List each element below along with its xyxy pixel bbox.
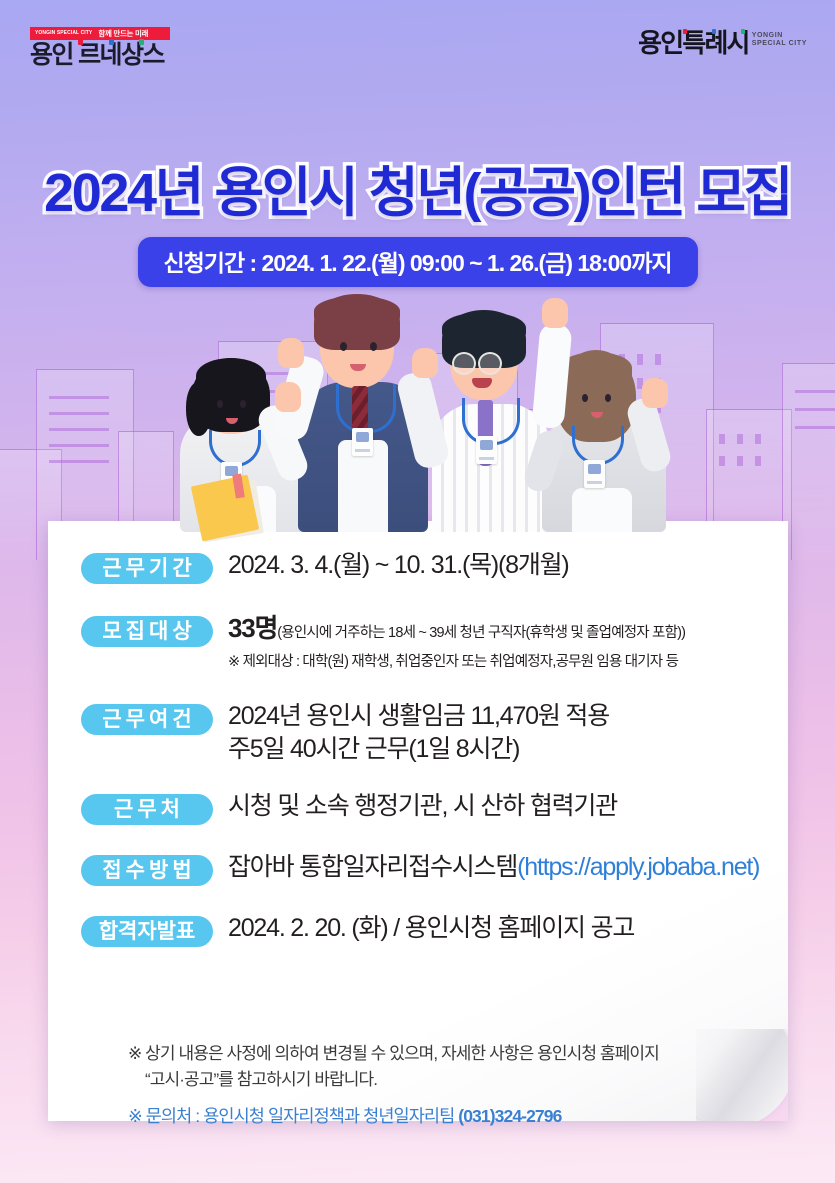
page-title: 2024년 용인시 청년(공공)인턴 모집 xyxy=(0,148,835,227)
logo-yongin-renaissance: YONGIN SPECIAL CITY 함께 만드는 미래 용인 르네상스 xyxy=(30,27,170,69)
logo-ribbon: YONGIN SPECIAL CITY 함께 만드는 미래 xyxy=(30,27,170,40)
footnote-disclaimer: ※ 상기 내용은 사정에 의하여 변경될 수 있으며, 자세한 사항은 용인시청… xyxy=(128,1041,758,1093)
hair-front xyxy=(314,296,400,326)
info-row-apply-method: 접수방법 잡아바 통합일자리접수시스템(https://apply.jobaba… xyxy=(48,851,788,886)
id-badge xyxy=(584,460,605,488)
info-card: 근무기간 2024. 3. 4.(월) ~ 10. 31.(목)(8개월) 모집… xyxy=(48,521,788,1121)
logo-accent-dot-green xyxy=(139,39,144,45)
folders xyxy=(194,476,264,538)
eye-left xyxy=(582,394,588,402)
logo-right-wordmark: 용인특례시 xyxy=(638,30,749,57)
results-value: 2024. 2. 20. (화) / 용인시청 홈페이지 공고 xyxy=(228,914,634,942)
info-row-results: 합격자발표 2024. 2. 20. (화) / 용인시청 홈페이지 공고 xyxy=(48,912,788,947)
people-illustration xyxy=(176,286,660,532)
id-badge xyxy=(476,436,497,464)
poster-root: YONGIN SPECIAL CITY 함께 만드는 미래 용인 르네상스 용인… xyxy=(0,0,835,1183)
logo-accent-dot-red xyxy=(683,29,687,34)
hair-side-ponytail xyxy=(186,382,212,436)
logo-right-wordmark-text: 용인특례시 xyxy=(638,28,749,58)
eye-left xyxy=(217,400,223,408)
row-value-apply-method: 잡아바 통합일자리접수시스템(https://apply.jobaba.net) xyxy=(213,851,759,884)
footnote-disclaimer-line2: “고시·공고”를 참고하시기 바랍니다. xyxy=(128,1067,758,1093)
row-label-target: 모집대상 xyxy=(81,616,213,647)
eye-left xyxy=(340,342,347,351)
logo-accent-dot-blue xyxy=(712,29,716,34)
info-rows: 근무기간 2024. 3. 4.(월) ~ 10. 31.(목)(8개월) 모집… xyxy=(48,521,788,947)
info-row-conditions: 근무여건 2024년 용인시 생활임금 11,470원 적용 주5일 40시간 … xyxy=(48,700,788,766)
lanyard xyxy=(336,384,396,433)
apply-url-link[interactable]: (https://apply.jobaba.net) xyxy=(517,853,759,881)
apply-system-name: 잡아바 통합일자리접수시스템 xyxy=(228,853,517,881)
fist xyxy=(642,378,668,408)
id-badge xyxy=(352,428,373,456)
contact-prefix: ※ 문의처 : 용인시청 일자리정책과 청년일자리팀 xyxy=(128,1106,458,1126)
conditions-hours: 주5일 40시간 근무(1일 8시간) xyxy=(228,733,609,766)
logo-ribbon-kr: 함께 만드는 미래 xyxy=(98,28,148,39)
collar xyxy=(572,488,632,532)
work-period-value: 2024. 3. 4.(월) ~ 10. 31.(목)(8개월) xyxy=(228,551,569,579)
eye-right xyxy=(370,342,377,351)
logo-ribbon-en: YONGIN SPECIAL CITY xyxy=(35,31,92,35)
info-row-target: 모집대상 33명(용인시에 거주하는 18세 ~ 39세 청년 구직자(휴학생 … xyxy=(48,612,788,674)
footnote-disclaimer-line1: ※ 상기 내용은 사정에 의하여 변경될 수 있으며, 자세한 사항은 용인시청… xyxy=(128,1044,659,1063)
row-value-results: 2024. 2. 20. (화) / 용인시청 홈페이지 공고 xyxy=(213,912,634,945)
fist xyxy=(275,382,301,412)
conditions-wage: 2024년 용인시 생활임금 11,470원 적용 xyxy=(228,702,609,730)
footnote-contact: ※ 문의처 : 용인시청 일자리정책과 청년일자리팀 (031)324-2796 xyxy=(128,1103,758,1128)
hair-front xyxy=(560,352,632,384)
fist-right xyxy=(412,348,438,378)
logo-left-wordmark-text: 용인 르네상스 xyxy=(30,41,164,69)
target-exclusion-note: ※ 제외대상 : 대학(원) 재학생, 취업중인자 또는 취업예정자,공무원 임… xyxy=(228,650,685,674)
logo-accent-dot-blue xyxy=(109,39,114,45)
row-value-workplace: 시청 및 소속 행정기관, 시 산하 협력기관 xyxy=(213,790,617,823)
logo-right-en-line1: YONGIN xyxy=(752,32,807,40)
row-label-apply-method: 접수방법 xyxy=(81,855,213,886)
fist xyxy=(278,338,304,368)
glasses-icon xyxy=(452,352,518,374)
row-label-work-period: 근무기간 xyxy=(81,553,213,584)
target-detail: (용인시에 거주하는 18세 ~ 39세 청년 구직자(휴학생 및 졸업예정자 … xyxy=(277,625,685,641)
row-label-results: 합격자발표 xyxy=(81,916,213,947)
info-row-workplace: 근무처 시청 및 소속 행정기관, 시 산하 협력기관 xyxy=(48,790,788,825)
row-value-target: 33명(용인시에 거주하는 18세 ~ 39세 청년 구직자(휴학생 및 졸업예… xyxy=(213,612,685,674)
eye-right xyxy=(240,400,246,408)
logo-right-en: YONGIN SPECIAL CITY xyxy=(752,32,807,57)
info-row-work-period: 근무기간 2024. 3. 4.(월) ~ 10. 31.(목)(8개월) xyxy=(48,549,788,584)
eye-right xyxy=(605,394,611,402)
building-shape xyxy=(782,363,835,560)
logo-left-wordmark: 용인 르네상스 xyxy=(30,41,170,69)
hair-front xyxy=(442,312,526,344)
logo-yongin-special-city: 용인특례시 YONGIN SPECIAL CITY xyxy=(638,30,807,57)
logo-right-en-line2: SPECIAL CITY xyxy=(752,40,807,48)
fist-right xyxy=(542,298,568,328)
row-value-conditions: 2024년 용인시 생활임금 11,470원 적용 주5일 40시간 근무(1일… xyxy=(213,700,609,766)
contact-phone: (031)324-2796 xyxy=(458,1106,561,1126)
row-label-workplace: 근무처 xyxy=(81,794,213,825)
footnotes: ※ 상기 내용은 사정에 의하여 변경될 수 있으며, 자세한 사항은 용인시청… xyxy=(128,1041,758,1128)
row-value-work-period: 2024. 3. 4.(월) ~ 10. 31.(목)(8개월) xyxy=(213,549,569,582)
row-label-conditions: 근무여건 xyxy=(81,704,213,735)
workplace-value: 시청 및 소속 행정기관, 시 산하 협력기관 xyxy=(228,792,617,820)
application-period-banner: 신청기간 : 2024. 1. 22.(월) 09:00 ~ 1. 26.(금)… xyxy=(137,237,697,287)
target-count: 33명 xyxy=(228,613,277,643)
logo-accent-dot-green xyxy=(741,29,745,34)
logo-accent-dot-red xyxy=(78,39,83,45)
